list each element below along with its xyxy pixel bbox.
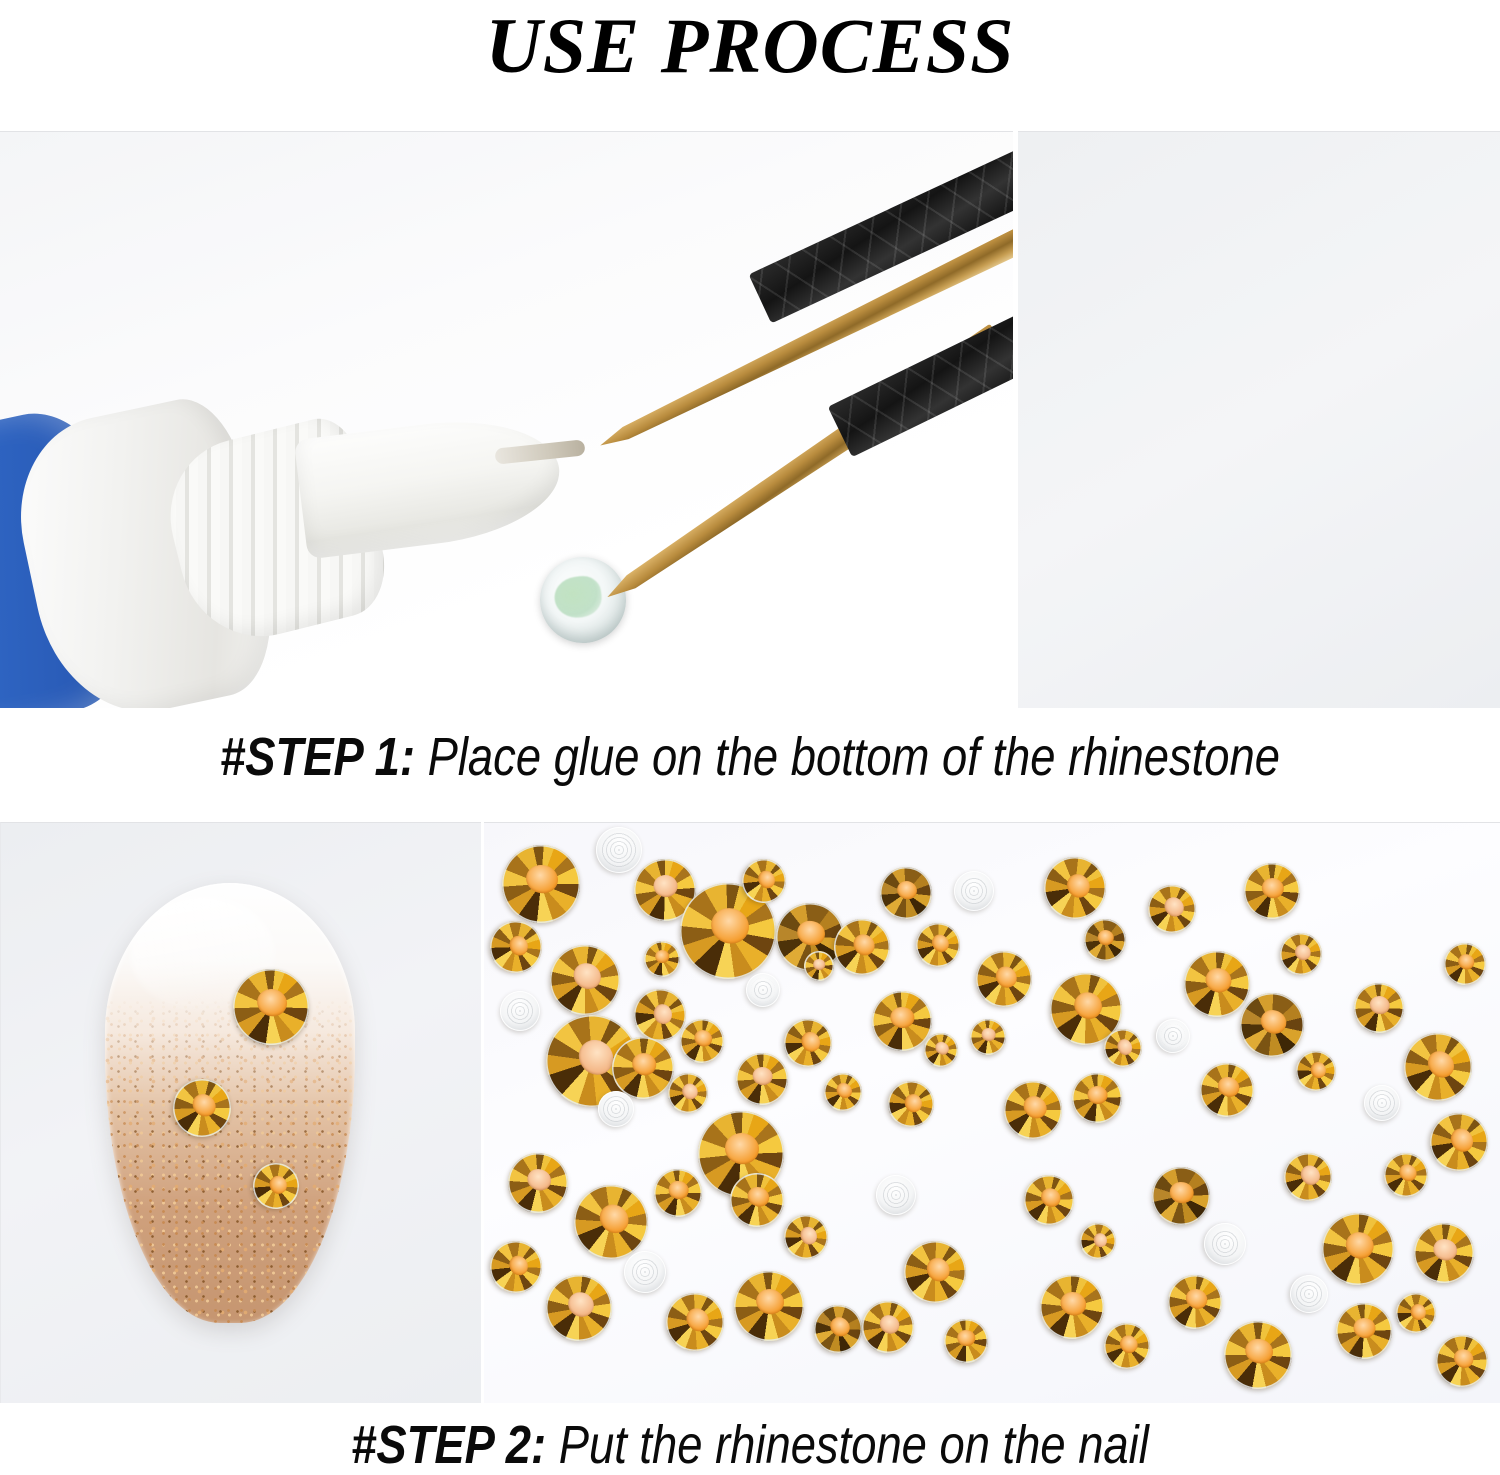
step-2-caption: #STEP 2: Put the rhinestone on the nail	[120, 1418, 1380, 1472]
rhinestone	[731, 1048, 793, 1110]
rhinestone	[1149, 1012, 1196, 1059]
step-2-image-row	[0, 822, 1500, 1402]
rhinestone	[776, 1011, 839, 1074]
rhinestone	[1237, 856, 1306, 925]
rhinestone	[1094, 1313, 1159, 1378]
rhinestone	[816, 1065, 870, 1119]
rhinestone	[537, 932, 633, 1028]
rhinestone	[942, 1317, 990, 1365]
tweezer-grip-lower	[828, 275, 1013, 457]
rhinestone	[882, 1075, 941, 1134]
rhinestone	[1283, 1268, 1334, 1319]
rhinestone	[992, 1069, 1073, 1150]
step-1-label: #STEP 1:	[220, 727, 415, 787]
rhinestone	[1138, 875, 1206, 943]
rhinestone	[484, 1231, 552, 1302]
rhinestone	[1390, 1287, 1443, 1340]
rhinestone	[621, 1248, 668, 1295]
page-title: USE PROCESS	[0, 0, 1500, 92]
rhinestone	[777, 1208, 836, 1267]
rhinestone	[1419, 1102, 1499, 1182]
rhinestone-scatter-photo	[484, 822, 1500, 1403]
press-on-nail	[105, 883, 355, 1323]
rhinestone	[496, 987, 544, 1035]
rhinestone	[1349, 978, 1410, 1039]
step-1-text: Place glue on the bottom of the rhinesto…	[415, 727, 1280, 787]
rhinestone	[1014, 1165, 1084, 1235]
rhinestone	[650, 1165, 707, 1222]
rhinestone	[852, 1291, 924, 1363]
rhinestone	[1390, 1019, 1486, 1115]
finished-nail-photo	[0, 822, 481, 1403]
tweezer-grip-upper	[749, 139, 1013, 323]
step-1-caption: #STEP 1: Place glue on the bottom of the…	[120, 730, 1380, 784]
rhinestone	[1190, 1053, 1263, 1126]
rhinestone	[1426, 1325, 1498, 1397]
rhinestone	[500, 1145, 577, 1222]
rhinestone	[1075, 1218, 1121, 1264]
rhinestone	[727, 1264, 812, 1349]
rhinestone	[1290, 1045, 1342, 1097]
rhinestone	[1158, 1265, 1231, 1338]
rhinestone	[873, 860, 940, 927]
rhinestone-with-glue	[534, 551, 631, 648]
rhinestone	[1271, 924, 1330, 983]
rhinestone	[871, 1170, 921, 1220]
rhinestone	[948, 865, 1001, 918]
rhinestone	[642, 939, 681, 978]
rhinestone	[1274, 1143, 1341, 1210]
step-1-image-row	[0, 131, 1500, 707]
rhinestone	[495, 838, 588, 931]
nail-glitter-gradient	[105, 997, 355, 1323]
rhinestone	[907, 914, 968, 975]
rhinestone-glue-closeup-photo	[1018, 131, 1500, 708]
rhinestone	[1436, 935, 1493, 992]
step-2-label: #STEP 2:	[351, 1415, 546, 1475]
rhinestone	[534, 1263, 624, 1353]
rhinestone	[1068, 1069, 1126, 1127]
rhinestone	[892, 1229, 979, 1316]
step-2-text: Put the rhinestone on the nail	[546, 1415, 1149, 1475]
glue-bottle-and-tweezers-photo	[0, 131, 1013, 708]
rhinestone	[1332, 1299, 1397, 1364]
rhinestone	[965, 940, 1044, 1019]
rhinestone	[654, 1281, 736, 1363]
rhinestone	[1216, 1313, 1300, 1397]
rhinestone	[1375, 1144, 1437, 1206]
rhinestone	[1147, 1162, 1216, 1231]
rhinestone	[1406, 1215, 1483, 1292]
rhinestone	[966, 1015, 1010, 1059]
rhinestone	[1358, 1079, 1406, 1127]
rhinestone	[1079, 914, 1132, 967]
rhinestone	[1196, 1215, 1254, 1273]
rhinestone	[1030, 1265, 1113, 1348]
